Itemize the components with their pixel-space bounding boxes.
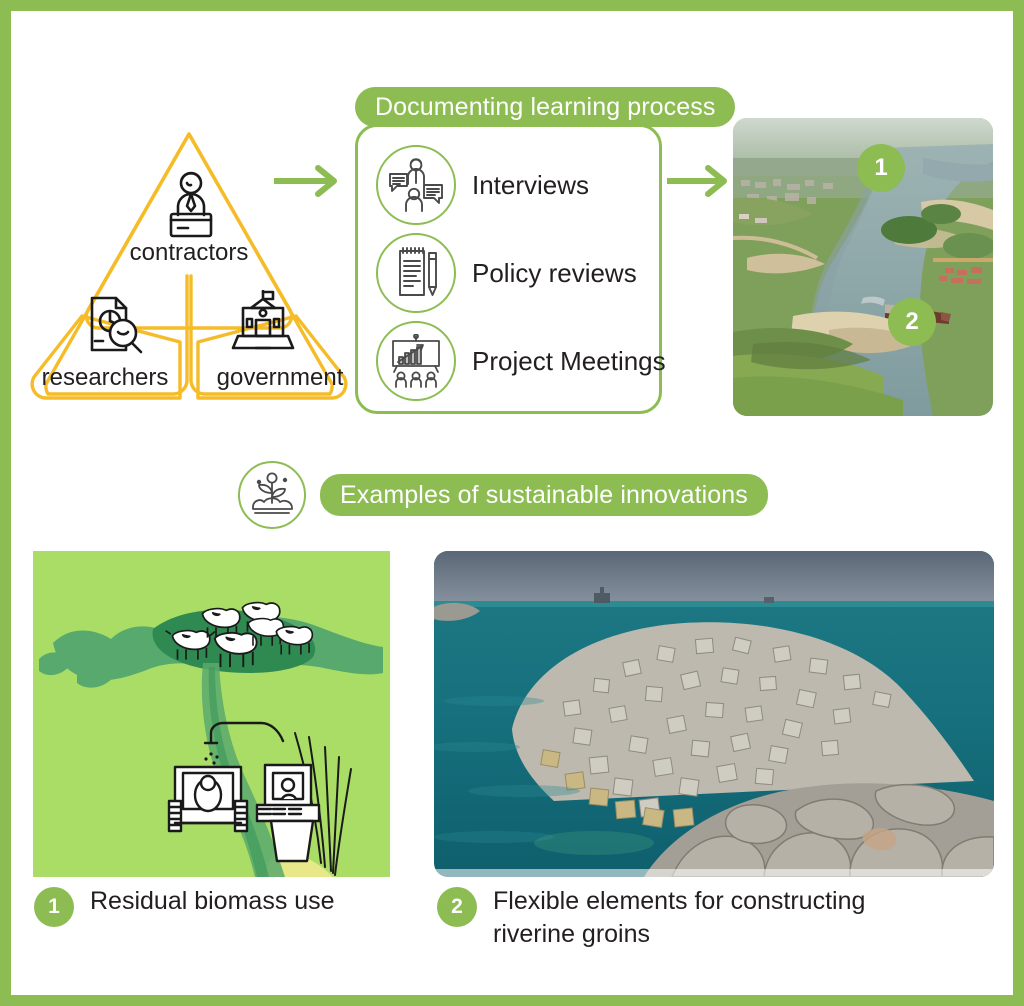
method-row-interviews[interactable]: Interviews bbox=[376, 145, 589, 225]
stakeholder-label-government: government bbox=[200, 364, 360, 392]
example-caption-1-text: Residual biomass use bbox=[90, 885, 335, 918]
innovations-title-text: Examples of sustainable innovations bbox=[340, 481, 748, 510]
photo-marker-1: 1 bbox=[857, 144, 905, 192]
example-caption-2: 2 Flexible elements for constructing riv… bbox=[437, 885, 913, 951]
arrow-right-icon bbox=[665, 163, 733, 199]
photo-marker-1-number: 1 bbox=[874, 154, 887, 182]
contractor-person-icon bbox=[156, 170, 226, 242]
method-label-policy-reviews: Policy reviews bbox=[472, 258, 637, 289]
stakeholder-label-contractors: contractors bbox=[24, 239, 354, 267]
notepad-pencil-icon bbox=[376, 233, 456, 313]
aerial-river-photo: 1 2 bbox=[733, 118, 993, 416]
method-row-policy-reviews[interactable]: Policy reviews bbox=[376, 233, 637, 313]
example-badge-1-number: 1 bbox=[48, 895, 60, 919]
documenting-title-text: Documenting learning process bbox=[375, 93, 715, 122]
residual-biomass-illustration bbox=[33, 551, 390, 877]
riverine-groin-photo bbox=[434, 551, 994, 877]
document-magnifier-icon bbox=[82, 294, 148, 360]
biomass-scene-svg bbox=[33, 551, 390, 877]
method-row-project-meetings[interactable]: Project Meetings bbox=[376, 321, 666, 401]
infographic-canvas: contractors researchers bbox=[0, 0, 1024, 1006]
method-label-project-meetings: Project Meetings bbox=[472, 346, 666, 377]
example-caption-2-text: Flexible elements for constructing river… bbox=[493, 885, 913, 951]
arrow-right-icon bbox=[272, 163, 344, 199]
government-building-laptop-icon bbox=[226, 290, 300, 358]
sprout-plant-icon bbox=[238, 461, 306, 529]
example-badge-2-number: 2 bbox=[451, 895, 463, 919]
innovations-title-pill: Examples of sustainable innovations bbox=[320, 474, 768, 516]
photo-marker-2-number: 2 bbox=[905, 308, 918, 336]
example-badge-1: 1 bbox=[34, 887, 74, 927]
example-badge-2: 2 bbox=[437, 887, 477, 927]
stakeholder-label-researchers: researchers bbox=[30, 364, 180, 392]
documenting-title-pill: Documenting learning process bbox=[355, 87, 735, 127]
method-label-interviews: Interviews bbox=[472, 170, 589, 201]
photo-marker-2: 2 bbox=[888, 298, 936, 346]
documenting-methods-box: Interviews Policy reviews bbox=[355, 124, 662, 414]
example-caption-1: 1 Residual biomass use bbox=[34, 885, 335, 927]
groin-scene-svg bbox=[434, 551, 994, 877]
interview-speech-bubbles-icon bbox=[376, 145, 456, 225]
presentation-chart-audience-icon bbox=[376, 321, 456, 401]
